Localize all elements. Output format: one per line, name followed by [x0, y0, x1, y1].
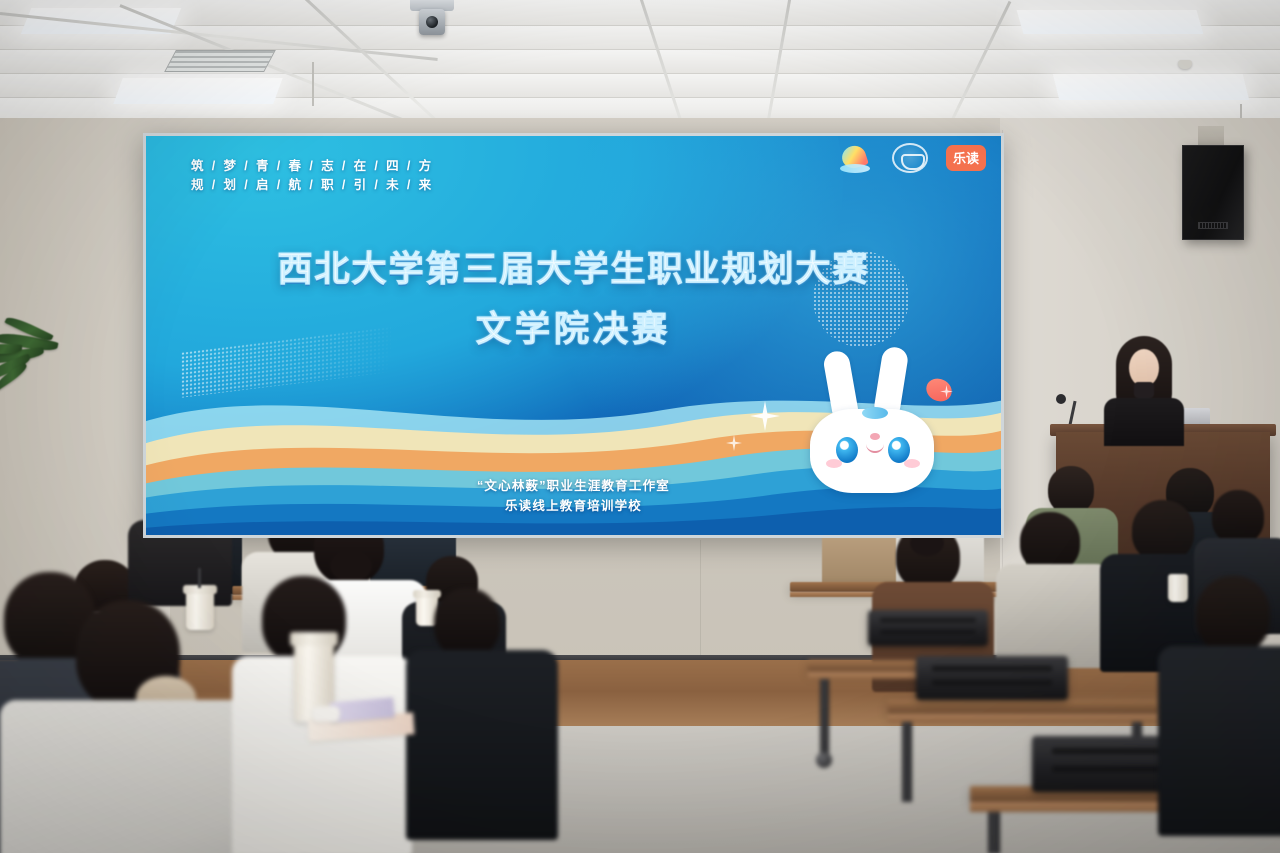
tagline-line-2: 规 / 划 / 启 / 航 / 职 / 引 / 未 / 来 — [191, 176, 434, 195]
led-presentation-screen: 筑 / 梦 / 青 / 春 / 志 / 在 / 四 / 方 规 / 划 / 启 … — [143, 133, 1004, 538]
tagline-line-1: 筑 / 梦 / 青 / 春 / 志 / 在 / 四 / 方 — [191, 157, 434, 176]
coffee-cup — [186, 590, 214, 630]
potted-plant — [0, 300, 102, 430]
screen-title-main: 西北大学第三届大学生职业规划大赛 — [143, 241, 1004, 292]
microphone-icon — [1056, 394, 1066, 404]
sponsor-logos: 乐读 — [840, 143, 986, 173]
speaker-grille-icon — [1198, 222, 1228, 229]
camera-lens-icon — [426, 16, 438, 28]
ceiling-vent — [164, 50, 276, 72]
mascot-eye-left — [836, 437, 858, 463]
coffee-cup — [1168, 574, 1188, 602]
wall-speaker — [1182, 145, 1244, 240]
ceiling-light-2 — [113, 78, 282, 104]
ceiling — [0, 0, 1280, 128]
screen-title-sub: 文学院决赛 — [143, 301, 1004, 352]
footer-line-1: “文心林薮”职业生涯教育工作室 — [143, 476, 1004, 496]
university-emblem-icon — [892, 143, 928, 173]
ceiling-light-4 — [1053, 74, 1249, 100]
presenter-body — [1104, 398, 1184, 446]
gradient-swoosh-logo-icon — [840, 143, 874, 173]
cup-lid — [290, 632, 338, 646]
desk — [888, 700, 1158, 714]
mascot-crest-icon — [862, 407, 888, 419]
photo-scene: 筑 / 梦 / 青 / 春 / 志 / 在 / 四 / 方 规 / 划 / 启 … — [0, 0, 1280, 853]
tissue — [312, 706, 340, 722]
presenter — [1098, 336, 1190, 436]
chair — [916, 656, 1068, 700]
ledu-logo: 乐读 — [946, 145, 986, 171]
footer-line-2: 乐读线上教育培训学校 — [143, 496, 1004, 516]
chair — [868, 610, 988, 646]
ceiling-light-3 — [1017, 10, 1204, 34]
screen-footer: “文心林薮”职业生涯教育工作室 乐读线上教育培训学校 — [143, 476, 1004, 516]
screen-tagline: 筑 / 梦 / 青 / 春 / 志 / 在 / 四 / 方 规 / 划 / 启 … — [191, 157, 434, 195]
